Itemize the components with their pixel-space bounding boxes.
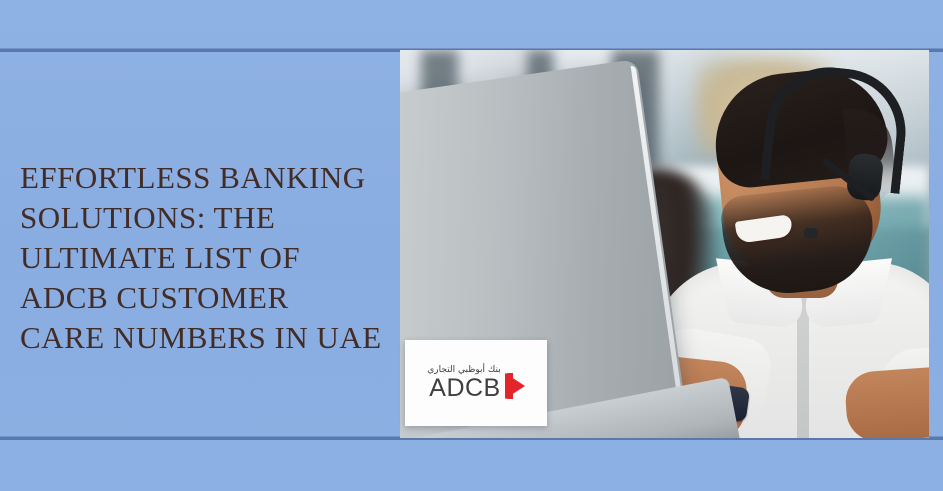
page-title: EFFORTLESS BANKING SOLUTIONS: THE ULTIMA… (20, 158, 400, 358)
title-line-4: ADCB CUSTOMER (20, 278, 400, 318)
adcb-logo-card: بنك أبوظبي التجاري ADCB (405, 340, 547, 426)
adcb-arrow-icon (505, 373, 525, 399)
adcb-logo-text: بنك أبوظبي التجاري ADCB (427, 366, 500, 401)
title-line-5: CARE NUMBERS IN UAE (20, 318, 400, 358)
call-centre-agent (658, 50, 929, 438)
title-line-2: SOLUTIONS: THE (20, 198, 400, 238)
title-line-1: EFFORTLESS BANKING (20, 158, 400, 198)
adcb-logo: بنك أبوظبي التجاري ADCB (427, 366, 524, 401)
title-line-3: ULTIMATE LIST OF (20, 238, 400, 278)
adcb-english-name: ADCB (429, 376, 500, 401)
banner-canvas: EFFORTLESS BANKING SOLUTIONS: THE ULTIMA… (0, 0, 943, 491)
headset-microphone-icon (804, 228, 818, 238)
